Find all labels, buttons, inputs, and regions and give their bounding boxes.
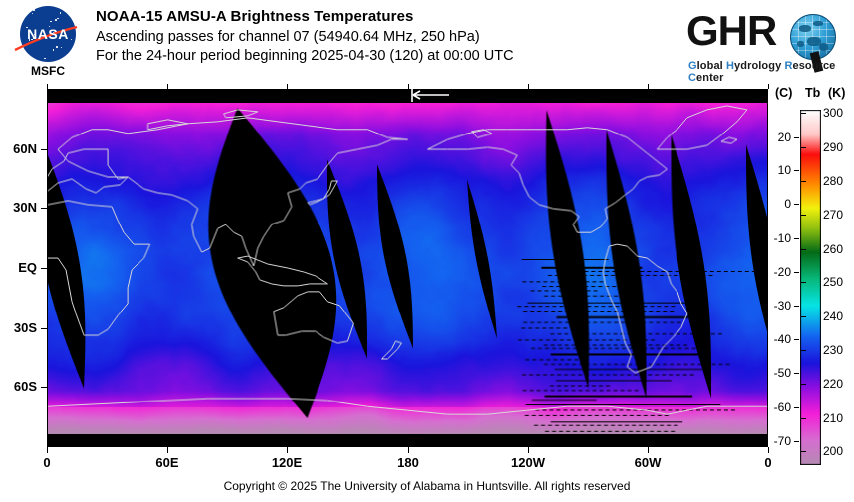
colorbar-tick xyxy=(794,306,799,307)
title-block: NOAA-15 AMSU-A Brightness Temperatures A… xyxy=(96,8,514,67)
longitude-tick-top xyxy=(528,84,529,89)
colorbar-celsius-label: -30 xyxy=(757,299,791,313)
latitude-label: 30S xyxy=(0,320,37,335)
latitude-tick xyxy=(41,208,47,209)
longitude-tick xyxy=(648,447,649,453)
longitude-label: 0 xyxy=(24,455,70,470)
nasa-wordmark: NASA xyxy=(20,26,76,42)
longitude-tick-top xyxy=(768,84,769,89)
latitude-tick xyxy=(41,387,47,388)
colorbar-kelvin-label: 220 xyxy=(823,377,854,391)
ghrc-acronym: GHR xyxy=(686,8,776,54)
map-plot-area xyxy=(47,89,768,447)
longitude-label: 60E xyxy=(144,455,190,470)
colorbar-tick xyxy=(801,113,806,114)
longitude-tick-top xyxy=(47,84,48,89)
period-subtitle: For the 24-hour period beginning 2025-04… xyxy=(96,48,514,64)
colorbar-celsius-label: -70 xyxy=(757,434,791,448)
brightness-temperature-raster xyxy=(48,90,767,446)
colorbar-tick xyxy=(794,339,799,340)
longitude-tick xyxy=(287,447,288,453)
colorbar-celsius-label: 10 xyxy=(757,163,791,177)
colorbar-tick xyxy=(794,137,799,138)
colorbar xyxy=(800,110,821,465)
colorbar-unit-kelvin: (K) xyxy=(828,86,845,100)
latitude-tick xyxy=(41,149,47,150)
colorbar-celsius-label: -60 xyxy=(757,400,791,414)
latitude-label: EQ xyxy=(0,260,37,275)
latitude-tick xyxy=(41,328,47,329)
colorbar-tick xyxy=(794,373,799,374)
longitude-tick xyxy=(47,447,48,453)
colorbar-tick xyxy=(801,249,806,250)
colorbar-tick xyxy=(794,170,799,171)
longitude-label: 60W xyxy=(625,455,671,470)
colorbar-tick xyxy=(801,350,806,351)
colorbar-tick xyxy=(801,384,806,385)
longitude-label: 0 xyxy=(745,455,791,470)
nasa-center-label: MSFC xyxy=(9,64,87,78)
longitude-tick xyxy=(408,447,409,453)
colorbar-kelvin-label: 260 xyxy=(823,242,854,256)
colorbar-tick xyxy=(801,147,806,148)
cursor-arrow-icon xyxy=(411,88,451,102)
colorbar-kelvin-label: 300 xyxy=(823,106,854,120)
colorbar-kelvin-label: 250 xyxy=(823,275,854,289)
colorbar-celsius-label: -40 xyxy=(757,332,791,346)
colorbar-celsius-label: -20 xyxy=(757,265,791,279)
colorbar-unit-celsius: (C) xyxy=(775,86,792,100)
latitude-label: 60S xyxy=(0,379,37,394)
latitude-label: 60N xyxy=(0,141,37,156)
longitude-tick-top xyxy=(648,84,649,89)
colorbar-tick xyxy=(794,272,799,273)
colorbar-celsius-label: 20 xyxy=(757,130,791,144)
colorbar-tick xyxy=(801,215,806,216)
colorbar-celsius-label: -10 xyxy=(757,231,791,245)
longitude-tick xyxy=(167,447,168,453)
longitude-label: 120E xyxy=(264,455,310,470)
colorbar-kelvin-label: 210 xyxy=(823,411,854,425)
longitude-tick-top xyxy=(408,84,409,89)
colorbar-kelvin-label: 230 xyxy=(823,343,854,357)
latitude-label: 30N xyxy=(0,200,37,215)
colorbar-tick xyxy=(801,316,806,317)
colorbar-kelvin-label: 200 xyxy=(823,444,854,458)
nasa-logo: NASA MSFC xyxy=(9,6,87,84)
longitude-label: 180 xyxy=(385,455,431,470)
longitude-label: 120W xyxy=(505,455,551,470)
colorbar-tick xyxy=(794,441,799,442)
colorbar-kelvin-label: 280 xyxy=(823,174,854,188)
ghrc-caption: Global Hydrology Resource Center xyxy=(688,60,846,84)
colorbar-tick xyxy=(794,407,799,408)
copyright-notice: Copyright © 2025 The University of Alaba… xyxy=(0,479,854,493)
latitude-tick xyxy=(41,268,47,269)
colorbar-tick xyxy=(801,418,806,419)
colorbar-tick xyxy=(801,181,806,182)
ghrc-logo: GHR Global Hydrology Resource Center xyxy=(686,8,846,80)
colorbar-kelvin-label: 290 xyxy=(823,140,854,154)
longitude-tick-top xyxy=(167,84,168,89)
colorbar-variable-label: Tb xyxy=(805,86,820,100)
colorbar-tick xyxy=(794,238,799,239)
longitude-tick xyxy=(528,447,529,453)
colorbar-kelvin-label: 240 xyxy=(823,309,854,323)
colorbar-celsius-label: -50 xyxy=(757,366,791,380)
colorbar-kelvin-label: 270 xyxy=(823,208,854,222)
colorbar-tick xyxy=(801,451,806,452)
page-title: NOAA-15 AMSU-A Brightness Temperatures xyxy=(96,8,514,25)
longitude-tick-top xyxy=(287,84,288,89)
colorbar-celsius-label: 0 xyxy=(757,197,791,211)
channel-subtitle: Ascending passes for channel 07 (54940.6… xyxy=(96,29,514,45)
colorbar-tick xyxy=(794,204,799,205)
colorbar-tick xyxy=(801,282,806,283)
visualization-page: NASA MSFC NOAA-15 AMSU-A Brightness Temp… xyxy=(0,0,854,502)
